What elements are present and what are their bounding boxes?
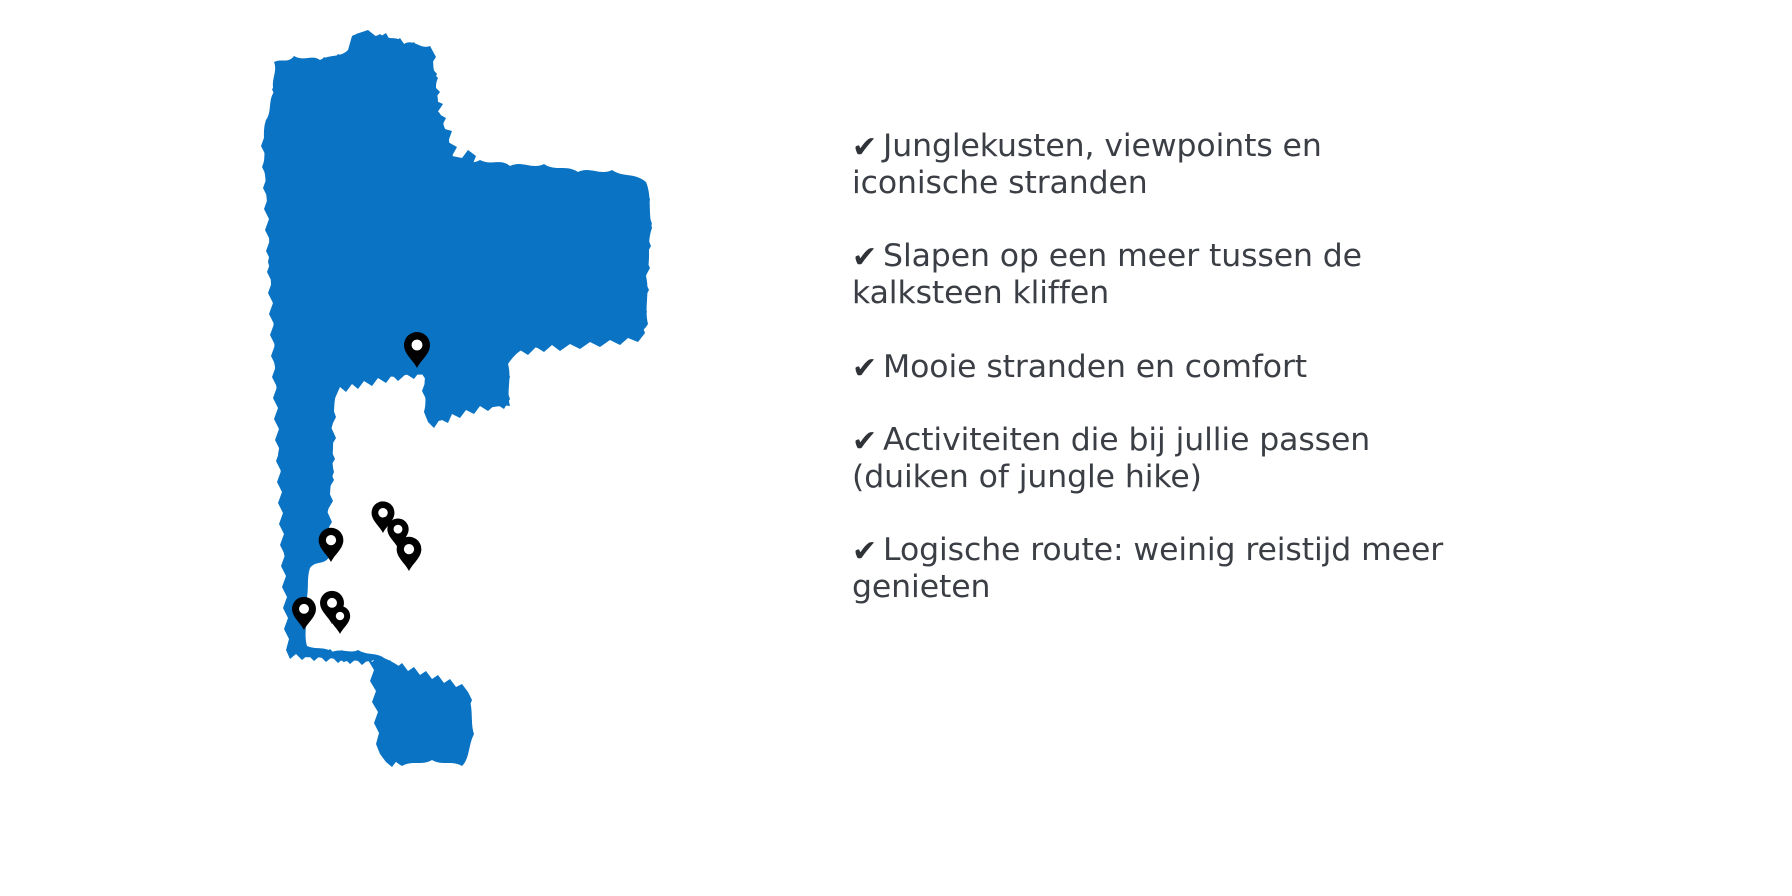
thailand-shape-main: [263, 34, 652, 766]
slide-root: ✔Junglekusten, viewpoints en iconische s…: [0, 0, 1792, 896]
checklist-item: ✔Slapen op een meer tussen de kalksteen …: [852, 238, 1452, 312]
checklist: ✔Junglekusten, viewpoints en iconische s…: [852, 128, 1452, 606]
check-icon: ✔: [852, 354, 877, 384]
checklist-item-label: Junglekusten, viewpoints en iconische st…: [852, 128, 1322, 201]
marker-pin-hole: [378, 508, 388, 518]
marker-pin-hole: [327, 598, 337, 608]
marker-pin-hole: [336, 612, 344, 620]
check-icon: ✔: [852, 427, 877, 457]
map-stage: [0, 0, 860, 896]
checklist-panel: ✔Junglekusten, viewpoints en iconische s…: [860, 0, 1792, 896]
check-icon: ✔: [852, 537, 877, 567]
check-icon: ✔: [852, 243, 877, 273]
marker-koh-samui[interactable]: [397, 537, 422, 571]
checklist-item: ✔Logische route: weinig reistijd meer ge…: [852, 532, 1452, 606]
check-icon: ✔: [852, 133, 877, 163]
map-panel: [0, 0, 860, 896]
marker-pin-hole: [404, 544, 414, 554]
checklist-item: ✔Mooie stranden en comfort: [852, 349, 1452, 386]
marker-pin-hole: [299, 604, 309, 614]
checklist-item-label: Activiteiten die bij jullie passen (duik…: [852, 422, 1370, 495]
checklist-item-label: Logische route: weinig reistijd meer gen…: [852, 532, 1443, 605]
thailand-body-path: [263, 34, 652, 766]
checklist-item-label: Slapen op een meer tussen de kalksteen k…: [852, 238, 1362, 311]
checklist-item-label: Mooie stranden en comfort: [883, 349, 1307, 385]
marker-pin-hole: [394, 525, 403, 534]
checklist-item: ✔Activiteiten die bij jullie passen (dui…: [852, 422, 1452, 496]
checklist-item: ✔Junglekusten, viewpoints en iconische s…: [852, 128, 1452, 202]
marker-pin-hole: [412, 340, 423, 351]
thailand-map-svg: [0, 0, 860, 896]
marker-koh-lanta[interactable]: [330, 606, 350, 634]
marker-pin-hole: [326, 535, 336, 545]
